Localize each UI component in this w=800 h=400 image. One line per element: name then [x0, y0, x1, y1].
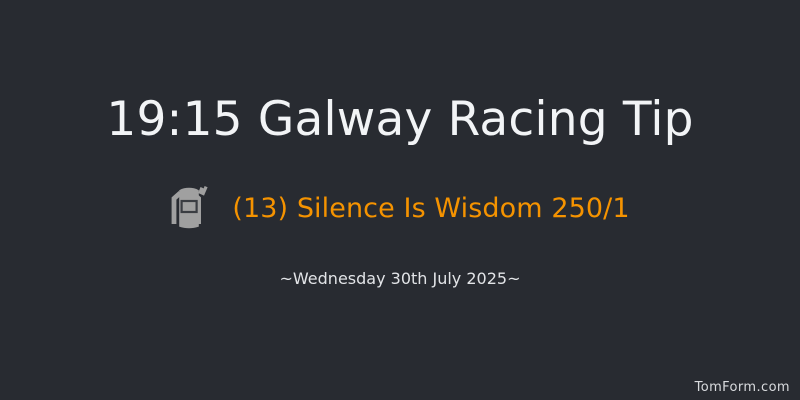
racing-tip-card: 19:15 Galway Racing Tip (13) Silence Is …	[0, 0, 800, 400]
page-title-text: 19:15 Galway Racing Tip	[106, 96, 693, 143]
site-watermark: TomForm.com	[695, 378, 790, 394]
site-watermark-text: TomForm.com	[695, 380, 790, 395]
jockey-silks-icon	[170, 185, 210, 231]
tip-date-text: ~Wednesday 30th July 2025~	[280, 269, 521, 288]
tip-selection-text: (13) Silence Is Wisdom 250/1	[232, 195, 629, 222]
page-title: 19:15 Galway Racing Tip	[0, 96, 800, 143]
tip-date: ~Wednesday 30th July 2025~	[0, 271, 800, 287]
tip-selection-row[interactable]: (13) Silence Is Wisdom 250/1	[0, 185, 800, 231]
